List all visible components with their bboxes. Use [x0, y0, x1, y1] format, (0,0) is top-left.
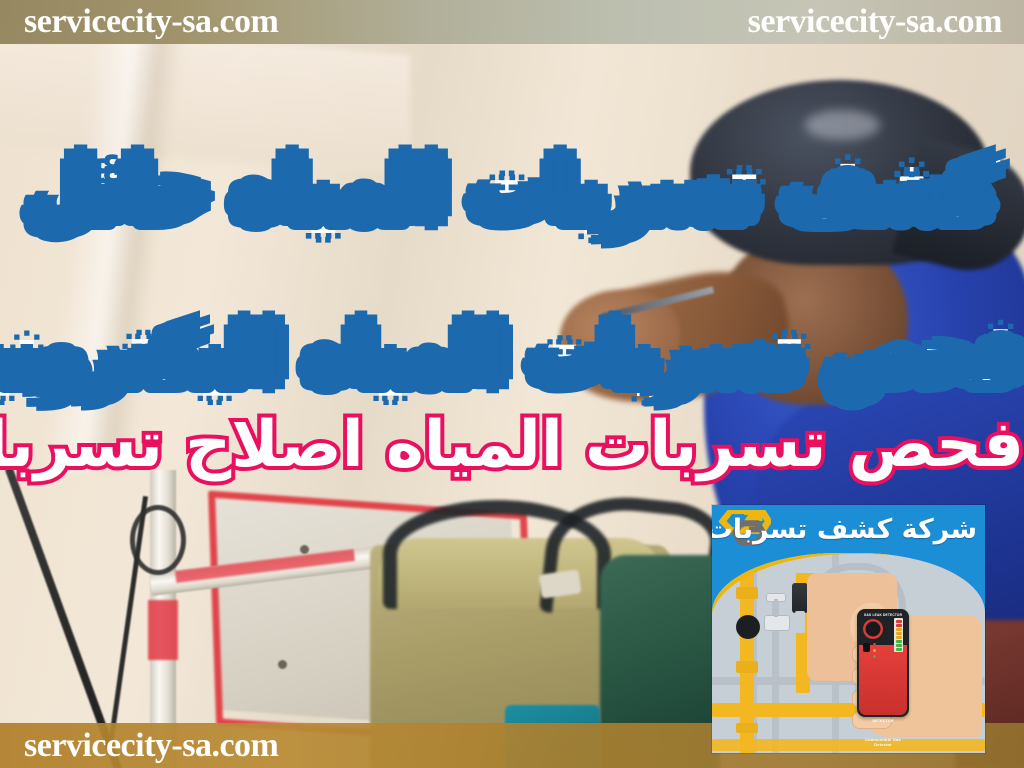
headline-primary: كشف تسربات المياه حائل — [0, 152, 1024, 228]
headline-tertiary: فحص تسربات المياه اصلاح تسربات المياه — [0, 413, 1024, 477]
watermark-top-right: servicecity-sa.com — [748, 0, 1002, 44]
panel-screw — [278, 660, 287, 669]
poster-image: servicecity-sa.com servicecity-sa.com se… — [0, 0, 1024, 768]
gas-leak-detector-illustration: GAS LEAK DETECTOR DETECTOR Combustible G… — [712, 553, 985, 753]
logo-card-body: GAS LEAK DETECTOR DETECTOR Combustible G… — [712, 553, 985, 753]
watermark-top-left: servicecity-sa.com — [24, 0, 278, 44]
yellow-arc-frame — [712, 553, 985, 753]
company-logo-card: شركة كشف تسربات — [712, 505, 985, 753]
watermark-bottom-left: servicecity-sa.com — [24, 723, 278, 768]
cap-highlight — [805, 110, 880, 140]
cable-loop — [130, 505, 186, 575]
logo-card-title: شركة كشف تسربات — [712, 509, 977, 551]
illustration-scene: GAS LEAK DETECTOR DETECTOR Combustible G… — [712, 553, 985, 753]
headline-secondary: فحص تسربات المياه اليكترونيا — [0, 318, 1024, 390]
pipe-red-marking — [148, 600, 178, 660]
panel-screw — [300, 545, 309, 554]
